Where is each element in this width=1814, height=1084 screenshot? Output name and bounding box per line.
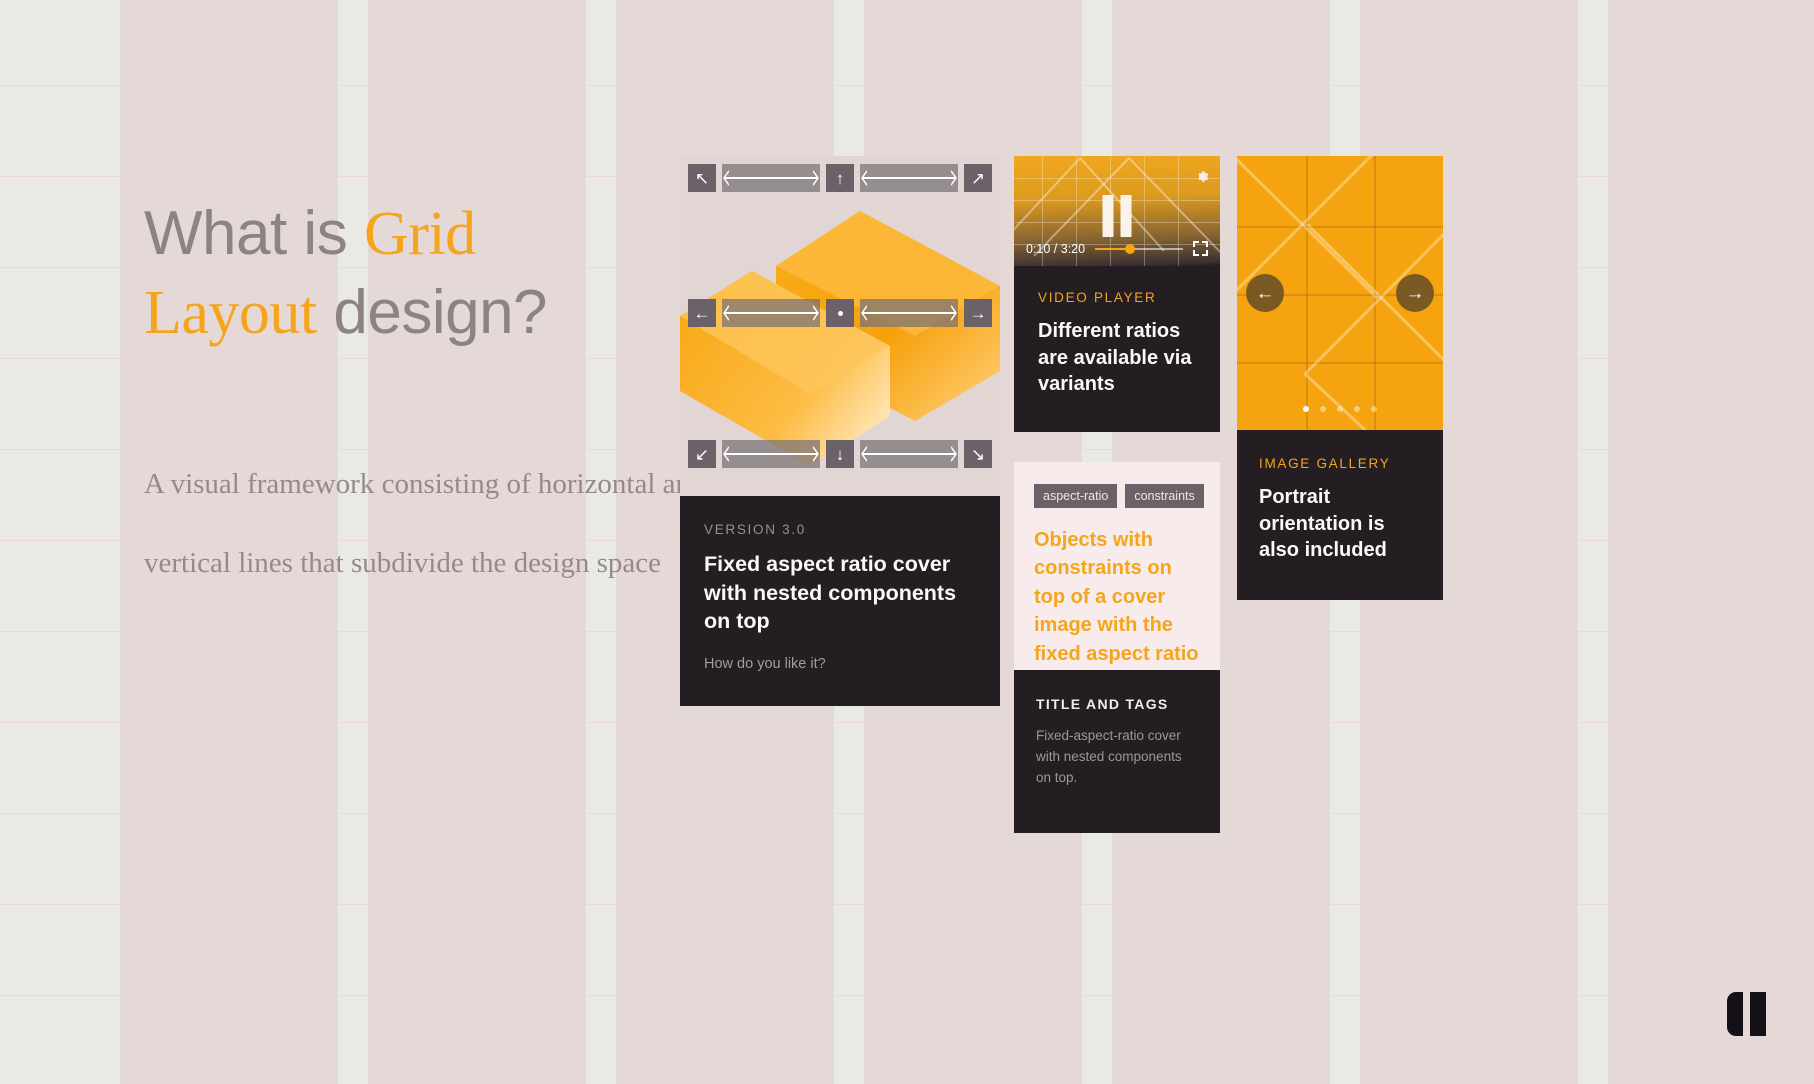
headline-accent-1: Grid [364,200,476,268]
headline-part-1: What is [144,199,364,268]
grid-hline [0,904,1814,905]
grid-column-band [1608,0,1814,1084]
pause-icon[interactable] [1103,195,1132,237]
hero-text-block: What is GridLayout design? A visual fram… [144,195,744,603]
gallery-prev-button[interactable]: ← [1246,274,1284,312]
card1-body: VERSION 3.0 Fixed aspect ratio cover wit… [680,496,1000,706]
card3-title: Portrait orientation is also included [1259,484,1421,564]
card2c-body: Fixed-aspect-ratio cover with nested com… [1036,726,1198,789]
gallery-dot[interactable] [1303,406,1309,412]
arrow-down-right-icon[interactable]: ↘ [964,440,992,468]
tag-constraints[interactable]: constraints [1125,484,1203,508]
constraint-bar-top[interactable] [722,164,820,192]
video-time: 0:10 / 3:20 [1026,242,1085,256]
card2-title: Different ratios are available via varia… [1038,318,1196,398]
headline-accent-2: Layout [144,279,317,347]
grid-hline [0,995,1814,996]
center-handle-icon[interactable] [826,299,854,327]
arrow-up-right-icon[interactable]: ↗ [964,164,992,192]
card-video-player[interactable]: 0:10 / 3:20 VIDEO PLAYER Different ratio… [1014,156,1220,432]
gallery-pagination-dots[interactable] [1303,406,1377,412]
card2c-eyebrow: TITLE AND TAGS [1036,696,1198,712]
slider-fill [1095,248,1127,250]
headline-part-2: design? [317,278,547,347]
constraint-bar-mid[interactable] [722,299,820,327]
gallery-dot[interactable] [1320,406,1326,412]
gear-icon[interactable] [1193,168,1210,185]
card-image-gallery[interactable]: ← → IMAGE GALLERY Portrait orientation i… [1237,156,1443,600]
card2-eyebrow: VIDEO PLAYER [1038,290,1196,305]
arrow-down-left-icon[interactable]: ↙ [688,440,716,468]
grid-hline [0,813,1814,814]
constraint-row-bottom[interactable]: ↙ ↓ ↘ [688,440,992,468]
card1-subtitle: How do you like it? [704,654,976,676]
card-tags-constraints[interactable]: aspect-ratio constraints Objects with co… [1014,462,1220,694]
video-cover[interactable]: 0:10 / 3:20 [1014,156,1220,266]
card2b-body: Objects with constraints on top of a cov… [1034,526,1200,668]
constraint-row-middle[interactable]: ← → [688,299,992,327]
constraint-bar-bottom[interactable] [722,440,820,468]
video-progress-slider[interactable] [1095,243,1183,255]
arrow-up-icon[interactable]: ↑ [826,164,854,192]
grid-hline [0,722,1814,723]
slider-knob[interactable] [1125,244,1135,254]
tag-list: aspect-ratio constraints [1034,484,1200,508]
tag-aspect-ratio[interactable]: aspect-ratio [1034,484,1117,508]
grid-hline [0,85,1814,86]
constraint-row-top[interactable]: ↖ ↑ ↗ [688,164,992,192]
gallery-dot[interactable] [1337,406,1343,412]
arrow-right-icon[interactable]: → [964,299,992,327]
card1-cover-image: ↖ ↑ ↗ ← → ↙ [680,156,1000,496]
gallery-dot[interactable] [1371,406,1377,412]
card-title-and-tags[interactable]: TITLE AND TAGS Fixed-aspect-ratio cover … [1014,670,1220,833]
gallery-dot[interactable] [1354,406,1360,412]
card3-body: IMAGE GALLERY Portrait orientation is al… [1237,430,1443,600]
page-title: What is GridLayout design? [144,195,744,352]
constraint-bar-bottom-2[interactable] [860,440,958,468]
fullscreen-icon[interactable] [1193,241,1208,256]
card1-eyebrow: VERSION 3.0 [704,522,976,537]
gallery-cover[interactable]: ← → [1237,156,1443,430]
arrow-up-left-icon[interactable]: ↖ [688,164,716,192]
arrow-down-icon[interactable]: ↓ [826,440,854,468]
card1-title: Fixed aspect ratio cover with nested com… [704,550,976,636]
constraint-bar-mid-2[interactable] [860,299,958,327]
hero-subtext: A visual framework consisting of horizon… [144,445,744,603]
constraint-bar-top-2[interactable] [860,164,958,192]
card-fixed-aspect-ratio[interactable]: ↖ ↑ ↗ ← → ↙ [680,156,1000,706]
card3-eyebrow: IMAGE GALLERY [1259,456,1421,471]
video-controls[interactable]: 0:10 / 3:20 [1026,241,1208,256]
arrow-left-icon[interactable]: ← [688,299,716,327]
gallery-next-button[interactable]: → [1396,274,1434,312]
card2-body: VIDEO PLAYER Different ratios are availa… [1014,266,1220,432]
pause-mark-logo [1727,992,1766,1036]
